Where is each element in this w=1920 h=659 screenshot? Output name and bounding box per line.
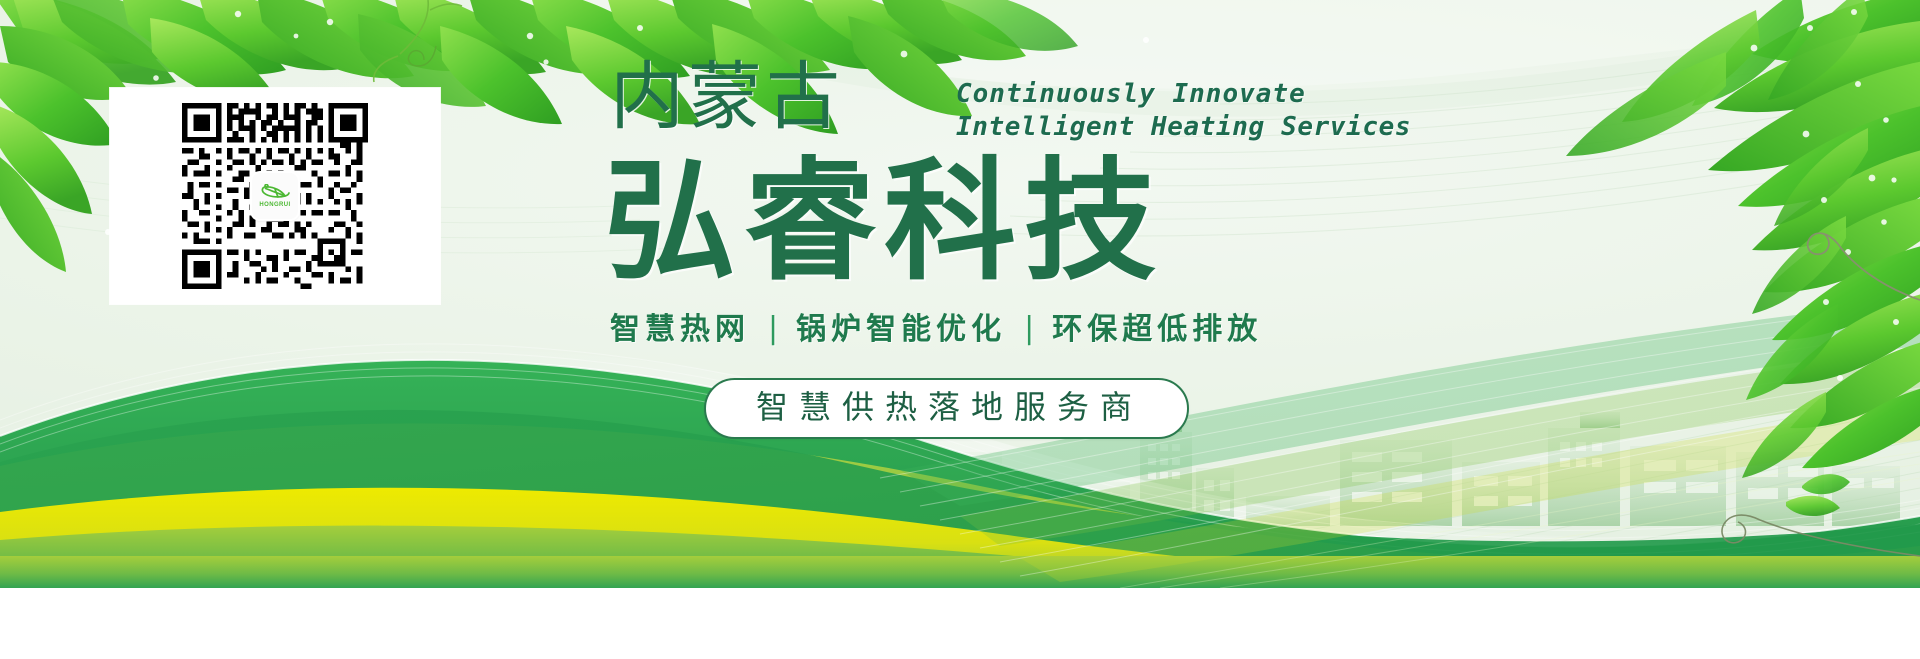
- service-badge: 智慧供热落地服务商: [704, 378, 1189, 439]
- service-badge-label: 智慧供热落地服务商: [750, 389, 1143, 426]
- leaf-icon: [260, 184, 290, 201]
- page-whitespace: [0, 588, 1920, 659]
- brand-title: 弘睿科技: [604, 156, 1164, 288]
- feature-item-2: 环保超低排放: [1052, 315, 1262, 345]
- english-slogan-line-1: Continuously Innovate: [956, 78, 1411, 111]
- region-title: 内蒙古: [610, 60, 844, 134]
- banner-stage: HONGRUI 内蒙古 Continuously Innovate Intell…: [0, 0, 1920, 659]
- feature-item-1: 锅炉智能优化: [796, 315, 1006, 345]
- company-banner: HONGRUI 内蒙古 Continuously Innovate Intell…: [0, 0, 1920, 588]
- qr-code-image[interactable]: HONGRUI: [182, 103, 368, 289]
- feature-list: 智慧热网 | 锅炉智能优化 | 环保超低排放: [610, 315, 1262, 345]
- qr-logo-text: HONGRUI: [259, 202, 290, 208]
- qr-center-logo: HONGRUI: [252, 173, 298, 219]
- qr-code-card[interactable]: HONGRUI: [110, 88, 440, 304]
- banner-content: 内蒙古 Continuously Innovate Intelligent He…: [600, 60, 1780, 480]
- feature-separator-0: |: [750, 314, 796, 344]
- english-slogan-line-2: Intelligent Heating Services: [956, 111, 1411, 144]
- feature-separator-1: |: [1006, 314, 1052, 344]
- feature-item-0: 智慧热网: [610, 315, 750, 345]
- english-slogan: Continuously Innovate Intelligent Heatin…: [956, 78, 1411, 145]
